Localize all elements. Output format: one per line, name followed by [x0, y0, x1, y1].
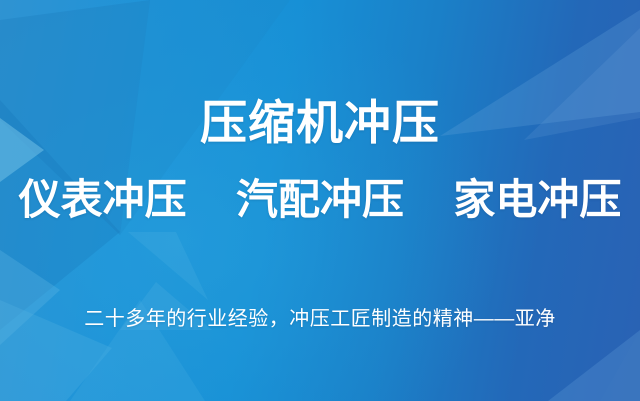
promo-banner: 压缩机冲压 仪表冲压 汽配冲压 家电冲压 二十多年的行业经验，冲压工匠制造的精神… — [0, 0, 640, 401]
banner-subheadline: 仪表冲压 汽配冲压 家电冲压 — [0, 177, 640, 222]
subhead-item-3: 家电冲压 — [453, 177, 621, 222]
banner-headline: 压缩机冲压 — [0, 98, 640, 148]
subhead-item-2: 汽配冲压 — [236, 177, 404, 222]
banner-content: 压缩机冲压 仪表冲压 汽配冲压 家电冲压 二十多年的行业经验，冲压工匠制造的精神… — [0, 0, 640, 401]
banner-tagline: 二十多年的行业经验，冲压工匠制造的精神——亚净 — [0, 306, 640, 332]
subhead-item-1: 仪表冲压 — [19, 177, 187, 222]
